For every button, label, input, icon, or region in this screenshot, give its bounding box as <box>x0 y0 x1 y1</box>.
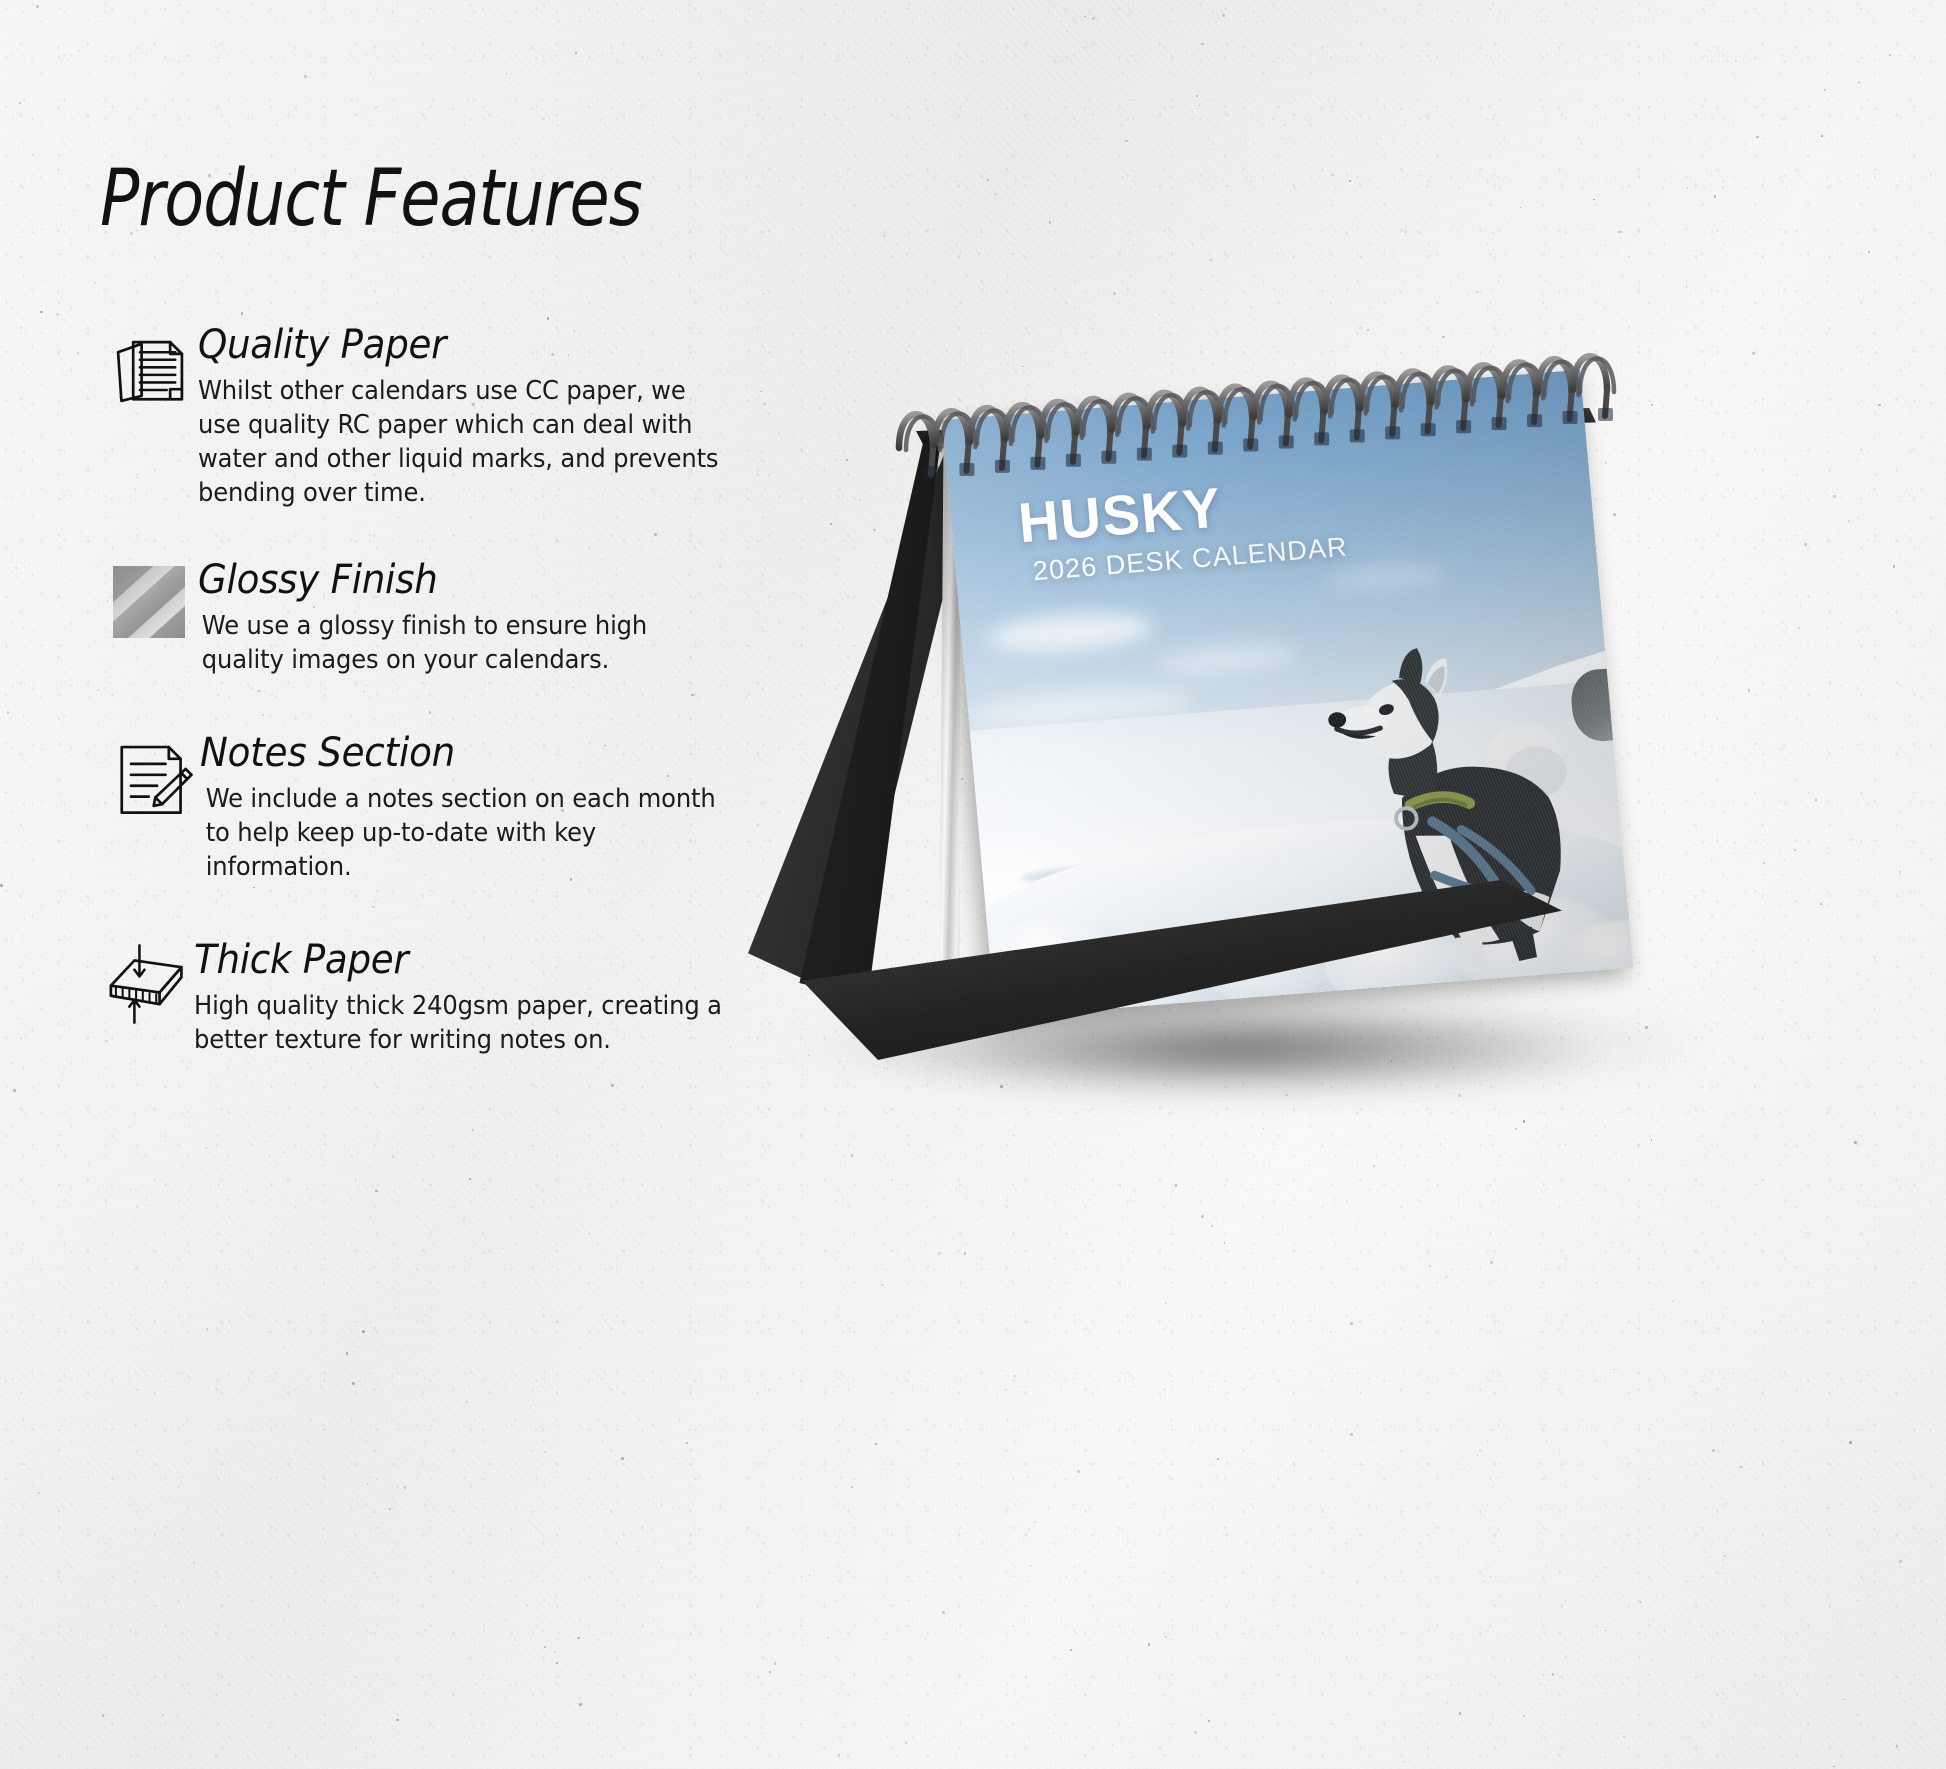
glossy-gradient-swatch-icon <box>113 566 185 638</box>
stacked-documents-icon <box>108 327 192 411</box>
feature-notes-section: Notes Section We include a notes section… <box>100 733 720 885</box>
feature-description: Whilst other calendars use CC paper, we … <box>198 375 730 511</box>
document-pencil-icon <box>110 737 194 821</box>
spiral-binding <box>890 356 1610 486</box>
feature-glossy-finish: Glossy Finish We use a glossy finish to … <box>100 560 720 678</box>
feature-heading: Glossy Finish <box>198 560 683 601</box>
feature-heading: Thick Paper <box>194 940 683 981</box>
feature-body: Quality Paper Whilst other calendars use… <box>100 325 720 510</box>
desk-calendar-mockup: HUSKY 2026 DESK CALENDAR <box>820 380 1700 1120</box>
features-column: Product Features <box>100 160 720 238</box>
feature-heading: Notes Section <box>200 733 684 774</box>
feature-description: High quality thick 240gsm paper, creatin… <box>194 990 726 1058</box>
feature-thick-paper: Thick Paper High quality thick 240gsm pa… <box>100 940 720 1058</box>
feature-description: We include a notes section on each month… <box>200 783 727 885</box>
feature-heading: Quality Paper <box>198 325 683 366</box>
paper-thickness-icon <box>100 942 194 1026</box>
page-title: Product Features <box>100 160 677 238</box>
feature-quality-paper: Quality Paper Whilst other calendars use… <box>100 325 720 510</box>
product-features-page: Product Features <box>0 0 1946 1769</box>
feature-body: Glossy Finish We use a glossy finish to … <box>100 560 720 678</box>
feature-description: We use a glossy finish to ensure high qu… <box>198 610 711 678</box>
